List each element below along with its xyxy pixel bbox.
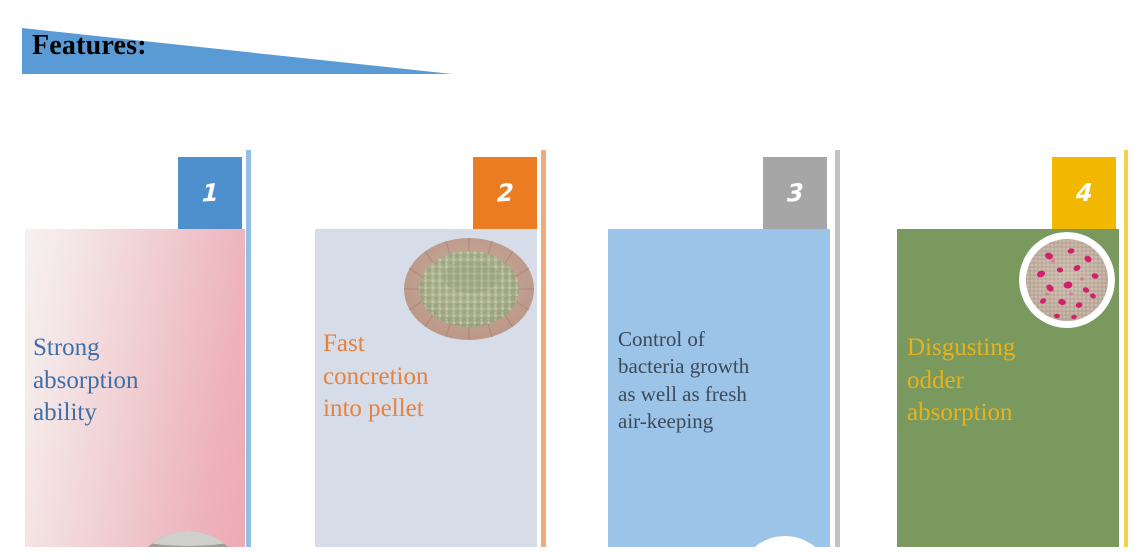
feature-card-2[interactable]: 2 Fast concretion into pellet <box>315 150 547 547</box>
feature-card-4[interactable]: 4 Disgusting odder absorption <box>897 150 1129 547</box>
feature-card-4-text: Disgusting odder absorption <box>907 332 1121 430</box>
feature-card-2-text: Fast concretion into pellet <box>323 328 537 426</box>
slide-canvas: Features: <box>0 0 1137 558</box>
feature-card-1-text: Strong absorption ability <box>33 332 243 430</box>
feature-card-3-number: 3 <box>786 180 804 205</box>
feature-card-4-accent-rule <box>1124 150 1128 547</box>
cat-in-litter-box-photo <box>738 536 830 547</box>
feature-card-3-text: Control of bacteria growth as well as fr… <box>618 326 834 435</box>
feature-card-3-number-tab: 3 <box>763 157 827 229</box>
cat-litter-pellets-bowl-photo <box>130 531 245 547</box>
feature-card-2-accent-rule <box>541 150 546 547</box>
feature-card-3-accent-rule <box>835 150 840 547</box>
pellets-in-paper-cup-photo <box>403 237 535 341</box>
feature-card-1-number: 1 <box>201 180 219 205</box>
feature-card-4-number-tab: 4 <box>1052 157 1116 229</box>
feature-card-4-number: 4 <box>1075 180 1093 205</box>
feature-card-1-accent-rule <box>246 150 251 547</box>
feature-card-2-number-tab: 2 <box>473 157 537 229</box>
feature-card-1[interactable]: 1 Strong absorption ability <box>25 150 255 547</box>
title-banner: Features: <box>22 28 452 74</box>
feature-card-1-number-tab: 1 <box>178 157 242 229</box>
feature-card-2-number: 2 <box>496 180 514 205</box>
page-title: Features: <box>32 30 147 62</box>
feature-card-3[interactable]: 3 Control of bacteria growth as well as … <box>608 150 840 547</box>
sand-with-pink-petals-photo <box>1019 232 1115 328</box>
